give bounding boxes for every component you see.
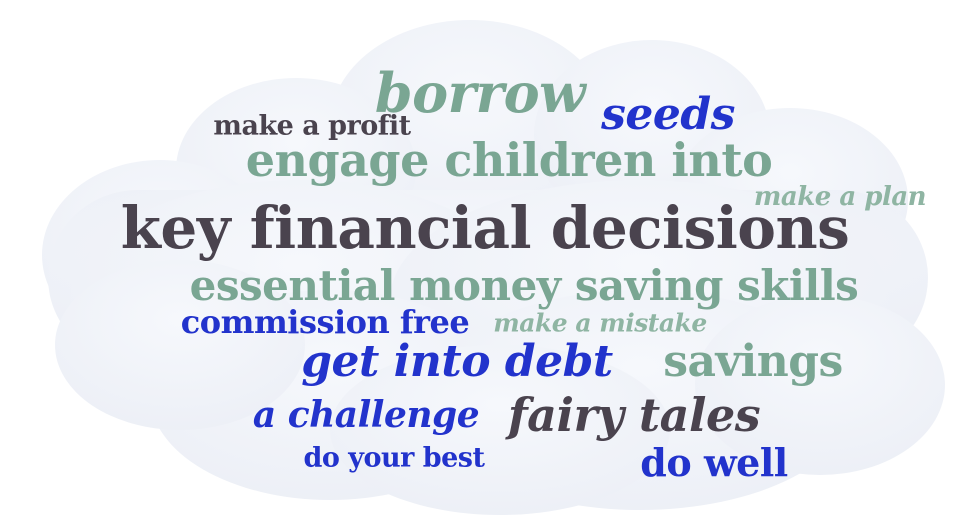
word-item: essential money saving skills <box>190 265 859 307</box>
word-item: commission free <box>181 306 469 338</box>
word-item: a challenge <box>253 397 479 433</box>
word-item: fairy tales <box>508 392 760 438</box>
word-item: do well <box>640 444 787 482</box>
word-cloud-canvas: borrowseedsmake a profitengage children … <box>0 0 966 517</box>
word-item: do your best <box>304 445 485 472</box>
word-item: engage children into <box>246 137 773 183</box>
word-item: key financial decisions <box>121 199 850 257</box>
word-item: savings <box>663 340 843 384</box>
word-item: seeds <box>601 93 735 137</box>
word-item: make a mistake <box>493 311 706 336</box>
word-item: get into debt <box>301 340 612 384</box>
